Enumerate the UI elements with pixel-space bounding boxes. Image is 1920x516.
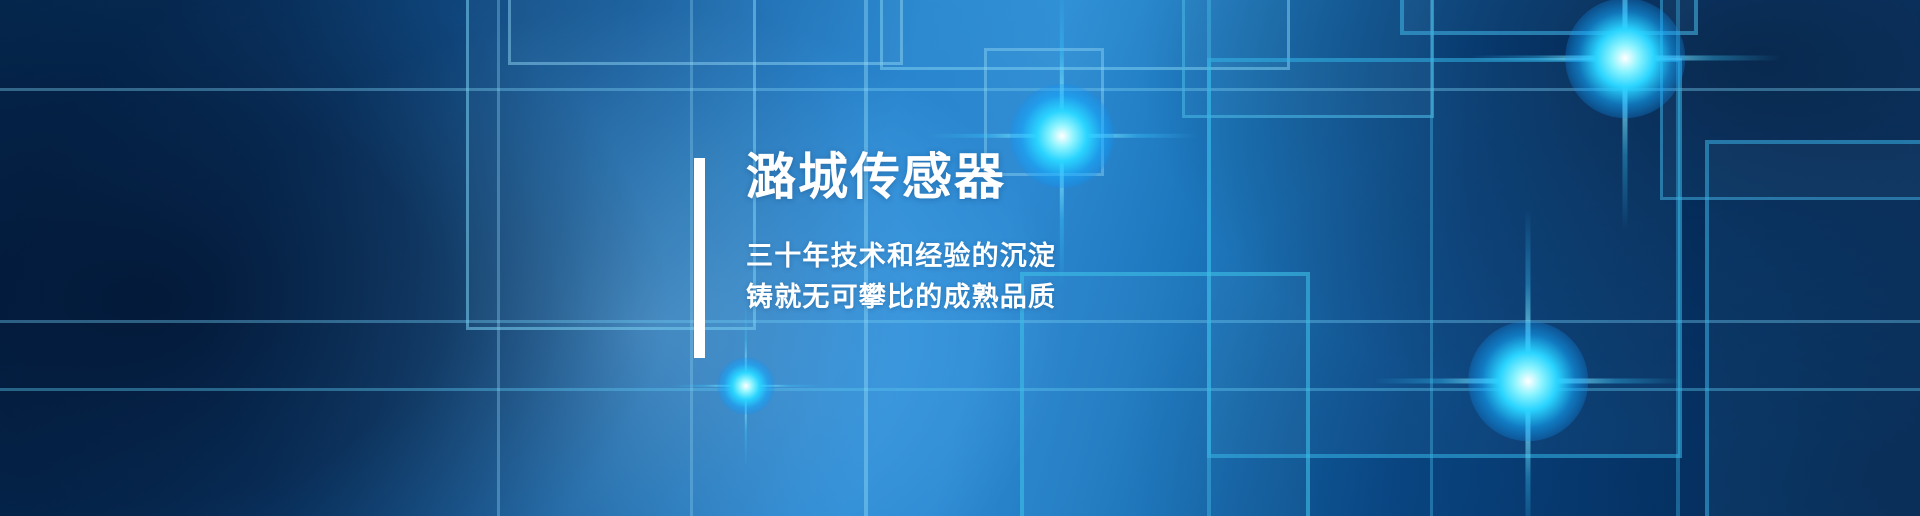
line-h-lower [0, 388, 1920, 391]
rect-mid-large [880, 0, 1290, 70]
accent-bar [694, 158, 705, 358]
sparkle-vertical-ray [1060, 0, 1064, 286]
rect-right-top2 [1400, 0, 1698, 35]
sparkle-horizontal-ray [1373, 378, 1684, 383]
rect-lower-right [1705, 140, 1920, 516]
banner-content: 潞城传感器 三十年技术和经验的沉淀 铸就无可攀比的成熟品质 [694, 150, 1056, 358]
rect-upper-mid [508, 0, 903, 65]
rect-mid-right-big [1207, 58, 1682, 458]
sparkle-top-right [1510, 0, 1740, 173]
line-v-right1 [1207, 0, 1211, 516]
sparkle-horizontal-ray [1470, 55, 1781, 60]
banner-text-column: 潞城传感器 三十年技术和经验的沉淀 铸就无可攀比的成熟品质 [746, 150, 1056, 358]
sparkle-horizontal-ray [927, 134, 1197, 138]
sparkle-core [1565, 0, 1685, 118]
line-v-right3 [1676, 0, 1680, 516]
sparkle-vertical-ray [1622, 0, 1627, 231]
sparkle-core [1468, 321, 1588, 441]
banner-headline: 潞城传感器 [746, 152, 1056, 202]
line-v-right2 [1430, 0, 1433, 516]
banner-subtitle-group: 三十年技术和经验的沉淀 铸就无可攀比的成熟品质 [746, 236, 1056, 318]
sparkle-horizontal-ray [672, 385, 821, 387]
banner-subtitle-line-2: 铸就无可攀比的成熟品质 [746, 277, 1056, 318]
sparkle-core [717, 357, 774, 414]
sparkle-bottom [1413, 266, 1643, 496]
line-h-top-left [0, 88, 1920, 91]
line-v-mid [690, 0, 693, 516]
rect-right-upper [1182, 0, 1434, 118]
rect-lower-mid [1020, 272, 1310, 516]
banner-subtitle-line-1: 三十年技术和经验的沉淀 [746, 236, 1056, 277]
hero-banner: 潞城传感器 三十年技术和经验的沉淀 铸就无可攀比的成熟品质 [0, 0, 1920, 516]
line-v-left [497, 0, 500, 516]
rect-far-right [1660, 0, 1920, 200]
sparkle-vertical-ray [1525, 209, 1530, 516]
